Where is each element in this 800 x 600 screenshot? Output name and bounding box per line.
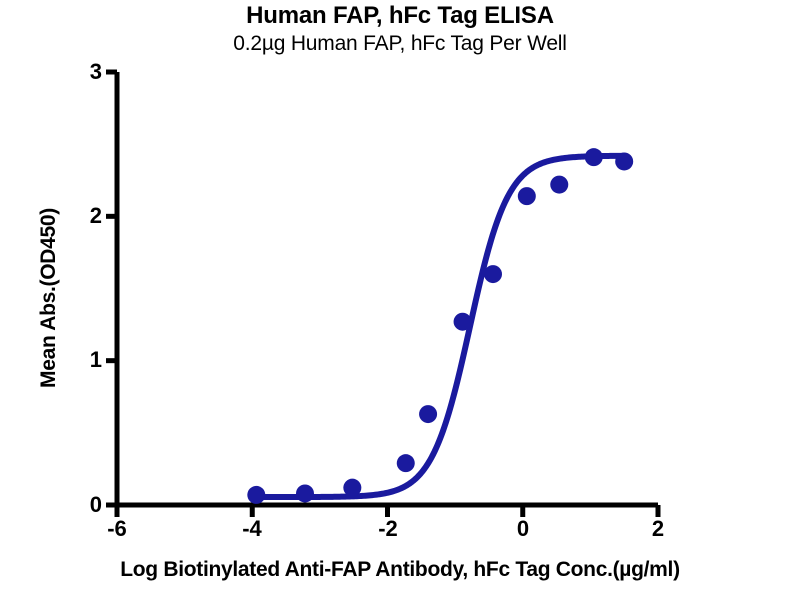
data-point-7 [518, 187, 536, 205]
data-point-8 [550, 176, 568, 194]
data-point-4 [419, 405, 437, 423]
data-point-10 [615, 152, 633, 170]
data-point-0 [247, 486, 265, 504]
data-point-6 [484, 265, 502, 283]
data-point-1 [296, 484, 314, 502]
plot-area [0, 0, 800, 600]
axes [117, 72, 658, 505]
fit-curve [256, 156, 624, 497]
data-point-5 [454, 313, 472, 331]
data-point-markers [247, 148, 633, 504]
elisa-chart: Human FAP, hFc Tag ELISA 0.2µg Human FAP… [0, 0, 800, 600]
data-point-3 [397, 454, 415, 472]
data-point-2 [343, 479, 361, 497]
data-point-9 [585, 148, 603, 166]
